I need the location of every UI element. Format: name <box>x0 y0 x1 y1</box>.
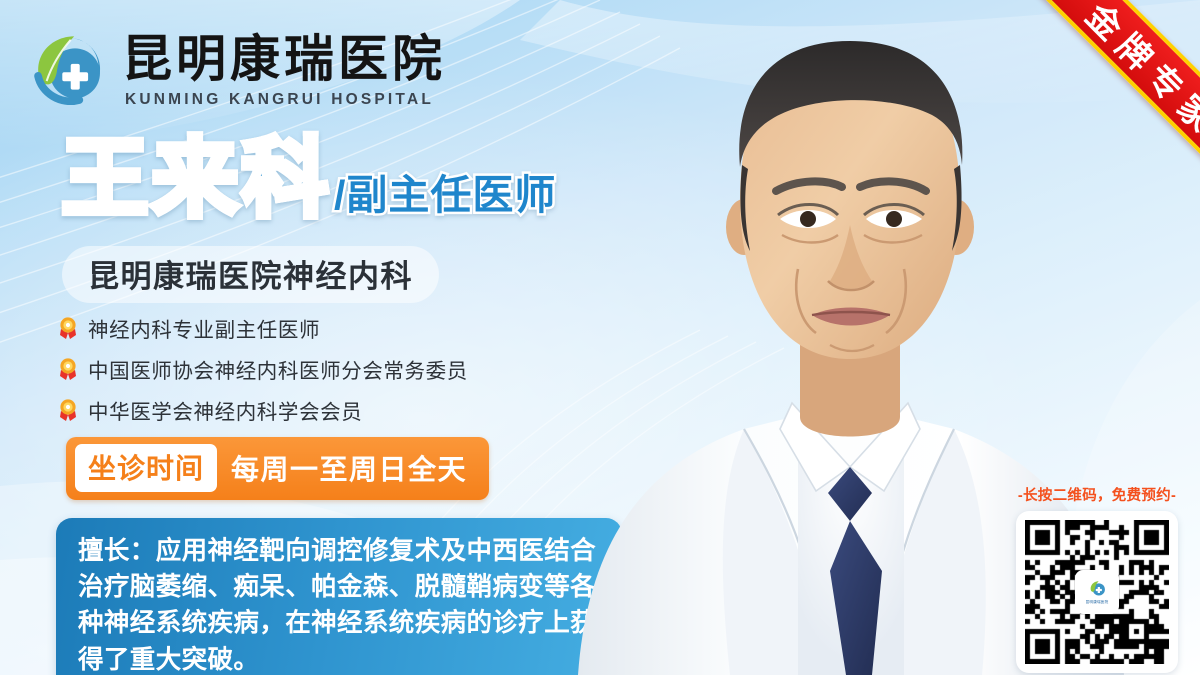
qr-center-logo-label: 昆明康瑞医院 <box>1086 600 1109 605</box>
doctor-name-row: 王来科 /副主任医师 <box>62 136 556 222</box>
list-item: 中华医学会神经内科学会会员 <box>58 395 468 425</box>
medal-ribbon-icon <box>58 316 78 340</box>
credential-text: 中华医学会神经内科学会会员 <box>88 395 362 425</box>
hours-label-badge: 坐诊时间 <box>75 444 217 492</box>
doctor-department: 昆明康瑞医院神经内科 <box>62 246 439 303</box>
qr-caption: -长按二维码，免费预约- <box>1018 484 1176 505</box>
hospital-name-en: KUNMING KANGRUI HOSPITAL <box>122 91 446 109</box>
doctor-name: 王来科 <box>62 136 332 222</box>
list-item: 神经内科专业副主任医师 <box>58 313 468 343</box>
medal-ribbon-icon <box>58 357 78 381</box>
leaf-cross-emblem-icon <box>26 26 112 112</box>
qr-booking-block[interactable]: -长按二维码，免费预约- 昆明康瑞医院 <box>1002 484 1192 673</box>
specialty-text: 擅长：应用神经靶向调控修复术及中西医结合治疗脑萎缩、痴呆、帕金森、脱髓鞘病变等各… <box>78 533 600 675</box>
logo-text: 昆明康瑞医院 KUNMING KANGRUI HOSPITAL <box>122 29 446 109</box>
list-item: 中国医师协会神经内科医师分会常务委员 <box>58 354 468 384</box>
doctor-title: /副主任医师 <box>334 175 556 222</box>
consultation-hours: 坐诊时间 每周一至周日全天 <box>66 437 489 500</box>
medal-ribbon-icon <box>58 398 78 422</box>
ribbon-text: 金牌专家 <box>1071 0 1200 146</box>
hospital-doctor-banner: 昆明康瑞医院 KUNMING KANGRUI HOSPITAL 王来科 /副主任… <box>0 0 1200 675</box>
qr-card[interactable]: 昆明康瑞医院 <box>1016 511 1178 673</box>
hospital-name-cn: 昆明康瑞医院 <box>122 33 446 86</box>
credentials-list: 神经内科专业副主任医师 中国医师协会神经内科医师分会常务委员 中华医学会神经内科… <box>58 313 468 436</box>
hospital-mark-icon <box>1088 579 1107 598</box>
credential-text: 中国医师协会神经内科医师分会常务委员 <box>88 354 468 384</box>
qr-center-logo: 昆明康瑞医院 <box>1077 572 1117 612</box>
ribbon-band: 金牌专家 <box>1015 0 1200 202</box>
hours-value: 每周一至周日全天 <box>231 448 467 488</box>
gold-expert-ribbon: 金牌专家 <box>970 0 1200 230</box>
credential-text: 神经内科专业副主任医师 <box>88 313 320 343</box>
hospital-logo: 昆明康瑞医院 KUNMING KANGRUI HOSPITAL <box>26 26 446 112</box>
